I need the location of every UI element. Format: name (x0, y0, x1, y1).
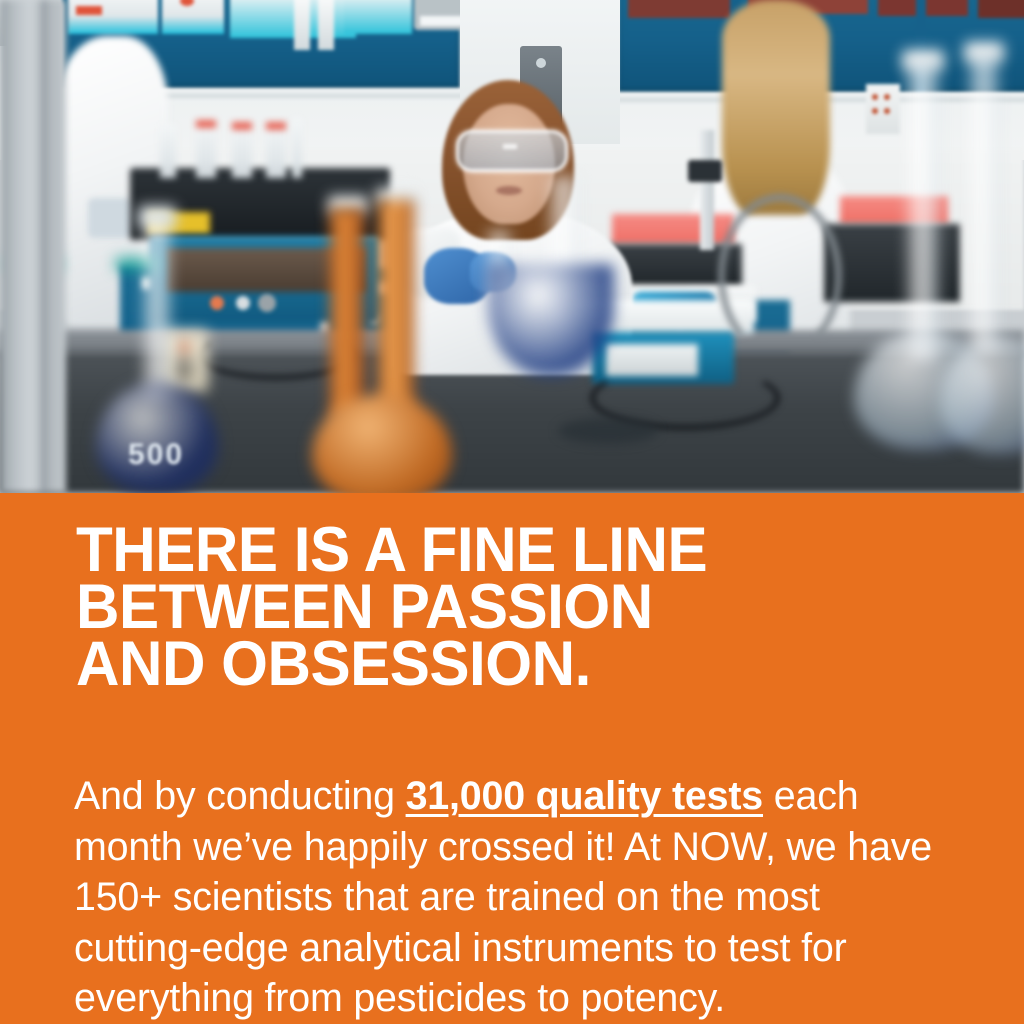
orange-message-panel: THERE IS A FINE LINE BETWEEN PASSION AND… (0, 493, 1024, 1024)
mixer-indicator (210, 296, 224, 310)
flask-volume-label: 500 (108, 438, 204, 478)
goggles-bridge (503, 144, 517, 149)
wall-box-led (536, 58, 546, 68)
social-post-canvas: 500 THERE IS A FINE LINE BETWEEN PASSION… (0, 0, 1024, 1024)
page-title: THERE IS A FINE LINE BETWEEN PASSION AND… (76, 522, 916, 693)
test-tube-3 (232, 122, 252, 178)
mixer-knob-b (258, 294, 276, 312)
reagent-tray-pink-left (612, 214, 734, 244)
coiled-hose (718, 194, 842, 358)
safety-goggles-icon (456, 130, 568, 172)
flask-neck-left (142, 218, 172, 398)
test-tube-5 (292, 118, 302, 178)
watch-glass-dish (558, 418, 658, 444)
test-tube-4 (266, 122, 286, 178)
scientist-left-hand (88, 198, 132, 238)
amber-flask-neck-1 (330, 208, 364, 420)
test-tube-1 (160, 124, 176, 178)
mixer-knob-a (236, 296, 250, 310)
clear-flask-neck-1 (906, 60, 940, 360)
scientist-right-hair (722, 0, 830, 215)
test-tube-2 (196, 120, 216, 178)
lab-stand-rod (700, 130, 714, 250)
body-text-before: And by conducting (74, 774, 406, 818)
wall-outlet-plate (866, 84, 900, 134)
post-seam (42, 0, 46, 493)
amber-flask-neck-2 (378, 200, 414, 416)
lab-structural-post (0, 0, 66, 493)
laboratory-photo: 500 (0, 0, 1024, 493)
body-paragraph: And by conducting 31,000 quality tests e… (74, 771, 933, 1024)
quality-tests-emphasis: 31,000 quality tests (406, 774, 763, 818)
lab-stand-clamp (688, 160, 722, 182)
clear-flask-neck-2 (968, 52, 1000, 352)
scientist-center-mouth (496, 186, 522, 195)
